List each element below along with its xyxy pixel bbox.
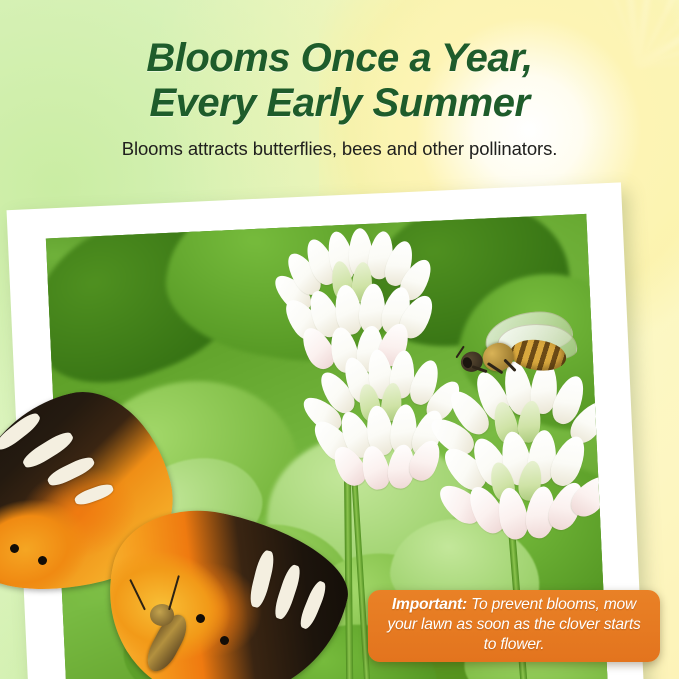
infographic-canvas: Blooms Once a Year, Every Early Summer B…: [0, 0, 679, 679]
important-callout: Important: To prevent blooms, mow your l…: [368, 590, 660, 662]
headline-line-1: Blooms Once a Year,: [146, 36, 532, 80]
headline-line-2: Every Early Summer: [0, 81, 679, 126]
page-title: Blooms Once a Year, Every Early Summer: [0, 36, 679, 126]
page-subtitle: Blooms attracts butterflies, bees and ot…: [0, 138, 679, 160]
butterfly-wing-dot: [38, 556, 47, 565]
butterfly-wing-dot: [220, 636, 229, 645]
callout-text: Important: To prevent blooms, mow your l…: [380, 595, 648, 656]
butterfly-wing-dot: [196, 614, 205, 623]
butterfly-wing-dot: [10, 544, 19, 553]
callout-lead: Important:: [392, 596, 467, 613]
butterfly: [0, 398, 330, 679]
